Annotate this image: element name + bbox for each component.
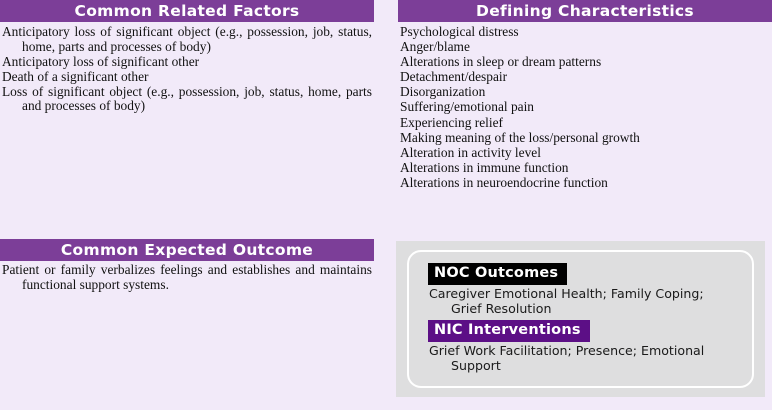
nic-interventions-label: NIC Interventions bbox=[428, 320, 590, 342]
noc-outcomes-body: Caregiver Emotional Health; Family Copin… bbox=[429, 286, 738, 317]
noc-outcomes-label: NOC Outcomes bbox=[428, 263, 567, 285]
common-expected-outcome-header: Common Expected Outcome bbox=[0, 239, 374, 261]
defining-characteristics-list: Psychological distress Anger/blame Alter… bbox=[398, 22, 772, 191]
list-item: Making meaning of the loss/personal grow… bbox=[400, 131, 770, 146]
common-related-factors-header: Common Related Factors bbox=[0, 0, 374, 22]
list-item: Disorganization bbox=[400, 85, 770, 100]
defining-characteristics-header: Defining Characteristics bbox=[398, 0, 772, 22]
list-item: Alterations in neuroendocrine function bbox=[400, 176, 770, 191]
nic-interventions-body: Grief Work Facilitation; Presence; Emoti… bbox=[429, 343, 738, 374]
list-item: Detachment/despair bbox=[400, 70, 770, 85]
list-item: Suffering/emotional pain bbox=[400, 100, 770, 115]
list-item: Anger/blame bbox=[400, 40, 770, 55]
common-related-factors-list: Anticipatory loss of significant object … bbox=[0, 22, 374, 114]
list-item: Psychological distress bbox=[400, 25, 770, 40]
list-item: Experiencing relief bbox=[400, 116, 770, 131]
common-expected-outcome-section: Common Expected Outcome Patient or famil… bbox=[0, 239, 374, 292]
noc-nic-panel-inner: NOC Outcomes Caregiver Emotional Health;… bbox=[407, 250, 754, 388]
common-expected-outcome-body: Patient or family verbalizes feelings an… bbox=[2, 263, 372, 292]
noc-nic-panel: NOC Outcomes Caregiver Emotional Health;… bbox=[396, 241, 765, 397]
list-item: Death of a significant other bbox=[2, 70, 372, 85]
defining-characteristics-section: Defining Characteristics Psychological d… bbox=[398, 0, 772, 191]
list-item: Anticipatory loss of significant object … bbox=[2, 25, 372, 54]
list-item: Anticipatory loss of significant other bbox=[2, 55, 372, 70]
list-item: Alterations in immune function bbox=[400, 161, 770, 176]
care-plan-page: Common Related Factors Anticipatory loss… bbox=[0, 0, 772, 410]
list-item: Alteration in activity level bbox=[400, 146, 770, 161]
list-item: Alterations in sleep or dream patterns bbox=[400, 55, 770, 70]
list-item: Loss of significant object (e.g., posses… bbox=[2, 85, 372, 114]
common-related-factors-section: Common Related Factors Anticipatory loss… bbox=[0, 0, 374, 115]
